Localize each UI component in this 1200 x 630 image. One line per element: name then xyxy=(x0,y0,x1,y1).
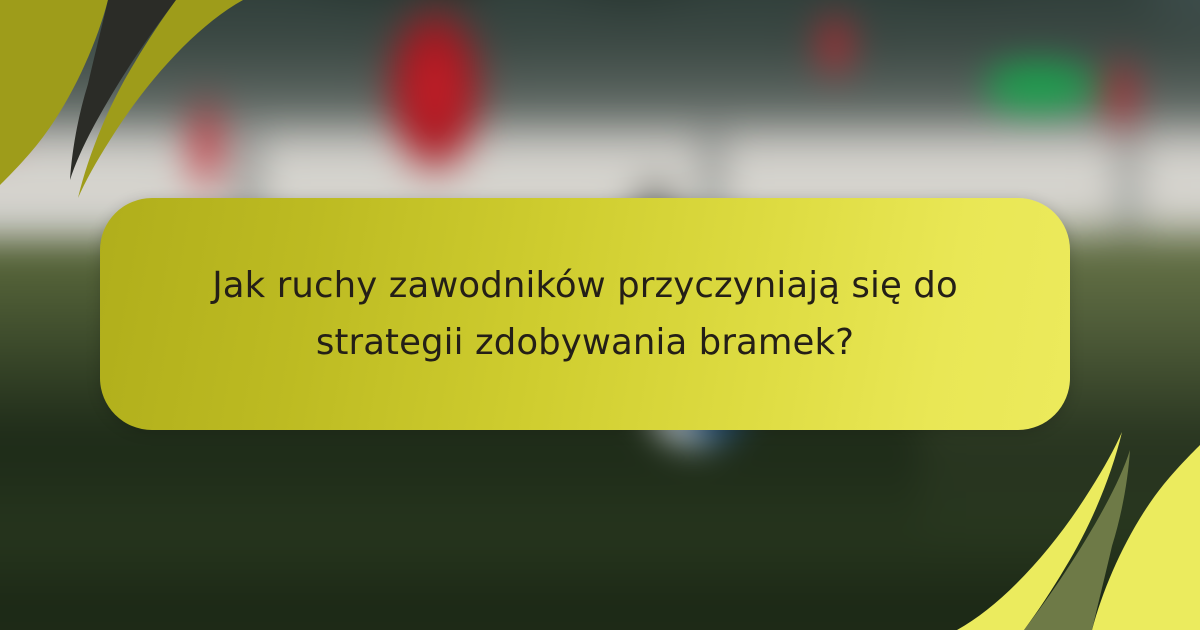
quote-card-canvas: Jak ruchy zawodników przyczyniają się do… xyxy=(0,0,1200,630)
quote-question-text: Jak ruchy zawodników przyczyniają się do… xyxy=(127,257,1043,372)
background-figure-red-right-b xyxy=(1078,20,1164,170)
background-figure-red-right-a xyxy=(790,0,880,110)
background-player-jersey xyxy=(360,0,510,190)
background-figure-red-left-a xyxy=(0,38,38,188)
quote-card: Jak ruchy zawodników przyczyniają się do… xyxy=(100,198,1070,430)
